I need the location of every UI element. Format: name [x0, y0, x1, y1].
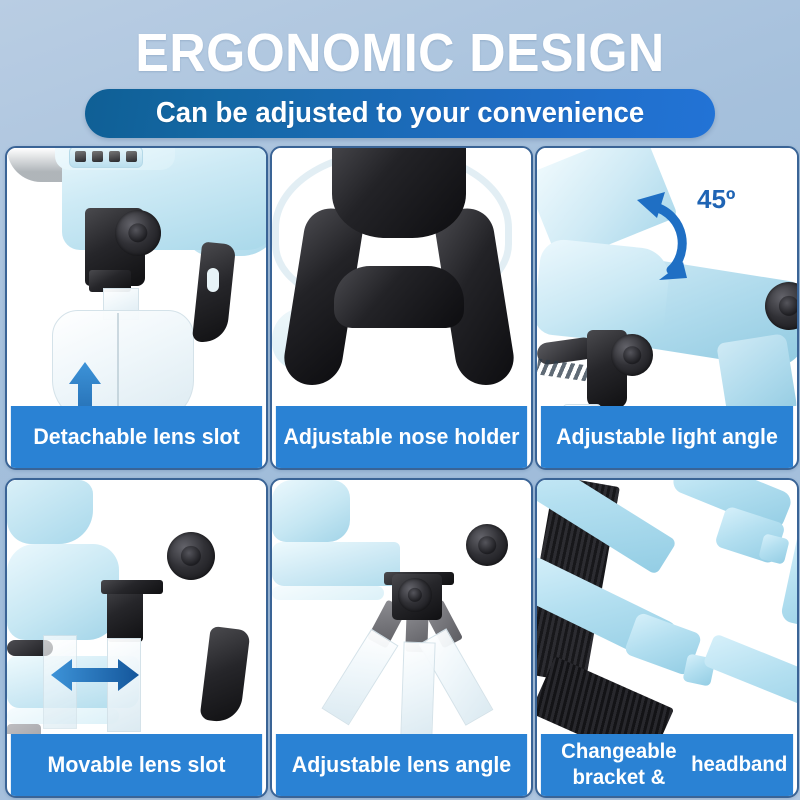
product-photo-movable-lens-slot [7, 480, 266, 734]
elastic-headband-strap-lower [537, 656, 674, 734]
subtitle-text: Can be adjusted to your convenience [156, 97, 644, 130]
feature-card-changeable-bracket-headband[interactable]: Changeable bracket & headband [535, 478, 799, 798]
led-lamp [75, 151, 86, 162]
caption-line-2: headband [691, 752, 787, 778]
header: ERGONOMIC DESIGN Can be adjusted to your… [0, 0, 800, 145]
lens-pivot-knob [398, 578, 432, 612]
side-pivot-knob [466, 524, 508, 566]
side-pivot-knob [167, 532, 215, 580]
nose-pad-top [332, 148, 466, 238]
light-head-housing [272, 480, 350, 542]
led-lamp [126, 151, 137, 162]
led-strip [69, 148, 143, 168]
caption-line-1: Changeable bracket & [547, 739, 691, 791]
vertical-double-arrow-icon [65, 360, 105, 406]
caption-adjustable-light-angle: Adjustable light angle [541, 406, 793, 468]
feature-card-adjustable-light-angle[interactable]: 45º Adjustable light angle [535, 146, 799, 470]
feature-grid: Detachable lens slot [5, 146, 795, 794]
lens-clip-rail [101, 580, 163, 594]
feature-card-detachable-lens-slot[interactable]: Detachable lens slot [5, 146, 268, 470]
nose-pad-bridge [334, 266, 464, 328]
led-lamp [92, 151, 103, 162]
product-photo-adjustable-nose-holder [272, 148, 531, 406]
caption-detachable-lens-slot: Detachable lens slot [11, 406, 262, 468]
lens-blade-left [322, 629, 399, 726]
product-photo-changeable-bracket-headband [537, 480, 797, 734]
feature-card-adjustable-nose-holder[interactable]: Adjustable nose holder [270, 146, 533, 470]
visor-top-lip [272, 586, 384, 600]
caption-changeable-bracket-headband: Changeable bracket & headband [541, 734, 793, 796]
hinge-knob [115, 210, 161, 256]
lens-divider [117, 313, 119, 406]
curved-double-arrow-icon [631, 182, 701, 286]
visor-lower-body [7, 480, 93, 544]
visor-body [272, 542, 400, 586]
temple-arm-hook [199, 626, 250, 724]
temple-arm [716, 333, 797, 406]
lens-hinge-knob [611, 334, 653, 376]
product-photo-adjustable-light-angle: 45º [537, 148, 797, 406]
caption-movable-lens-slot: Movable lens slot [11, 734, 262, 796]
subtitle-pill: Can be adjusted to your convenience [85, 89, 715, 138]
angle-annotation-45: 45º [697, 184, 735, 215]
infographic-page: ERGONOMIC DESIGN Can be adjusted to your… [0, 0, 800, 800]
led-lamp [109, 151, 120, 162]
feature-card-movable-lens-slot[interactable]: Movable lens slot [5, 478, 268, 798]
caption-adjustable-lens-angle: Adjustable lens angle [276, 734, 527, 796]
caption-adjustable-nose-holder: Adjustable nose holder [276, 406, 527, 468]
page-title: ERGONOMIC DESIGN [28, 24, 772, 82]
temple-arm-hook [192, 241, 236, 344]
brand-marking [537, 358, 590, 381]
temple-arm-hole [207, 268, 219, 292]
bracket-arm-bottom [702, 633, 797, 724]
lens-blade-center [400, 641, 435, 734]
horizontal-double-arrow-icon [49, 656, 141, 694]
product-photo-adjustable-lens-angle [272, 480, 531, 734]
product-photo-detachable-lens-slot [7, 148, 266, 406]
feature-card-adjustable-lens-angle[interactable]: Adjustable lens angle [270, 478, 533, 798]
ghost-lens-clip [7, 724, 41, 734]
